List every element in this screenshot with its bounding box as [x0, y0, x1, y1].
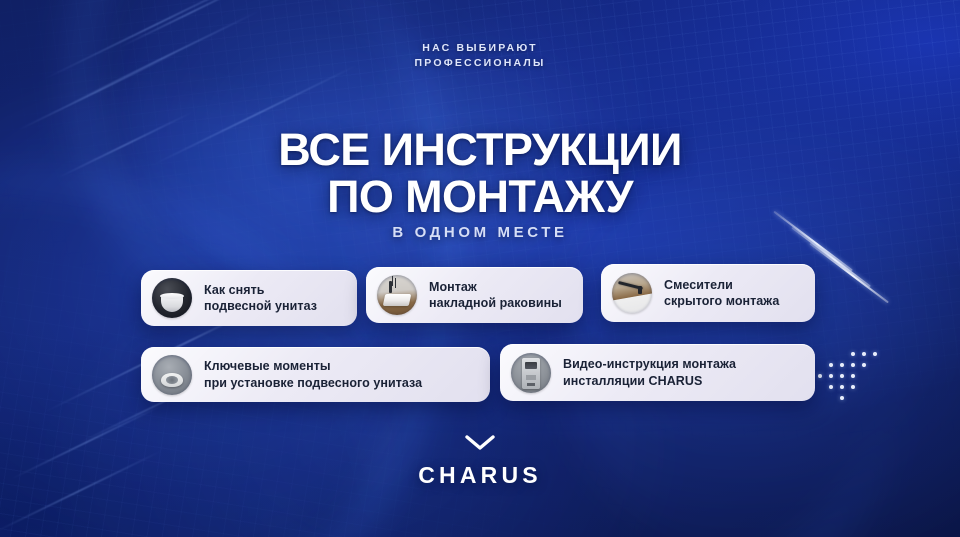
instruction-card-charus-installation-video[interactable]: Видео-инструкция монтажа инсталляции CHA…	[500, 344, 815, 401]
brand-name: CHARUS	[0, 462, 960, 489]
instruction-card-label: Как снять подвесной унитаз	[204, 282, 317, 315]
card-line-2: подвесной унитаз	[204, 298, 317, 315]
banner-stage: НАС ВЫБИРАЮТ ПРОФЕССИОНАЛЫ ВСЕ ИНСТРУКЦИ…	[0, 0, 960, 537]
card-line-2: скрытого монтажа	[664, 293, 779, 310]
instruction-card-label: Видео-инструкция монтажа инсталляции CHA…	[563, 356, 736, 389]
instruction-card-label: Монтаж накладной раковины	[429, 279, 562, 312]
card-line-2: накладной раковины	[429, 295, 562, 312]
instruction-card-countertop-basin-installation[interactable]: Монтаж накладной раковины	[366, 267, 583, 323]
card-line-1: Как снять	[204, 282, 317, 299]
chevron-down-icon	[465, 435, 495, 450]
banner-content: НАС ВЫБИРАЮТ ПРОФЕССИОНАЛЫ ВСЕ ИНСТРУКЦИ…	[0, 0, 960, 537]
instruction-card-label: Ключевые моменты при установке подвесног…	[204, 358, 422, 391]
countertop-basin-thumbnail-icon	[377, 275, 417, 315]
card-line-1: Видео-инструкция монтажа	[563, 356, 736, 373]
grey-toilet-thumbnail-icon	[152, 355, 192, 395]
card-line-2: инсталляции CHARUS	[563, 373, 736, 390]
instruction-card-concealed-mixers[interactable]: Смесители скрытого монтажа	[601, 264, 815, 322]
instruction-card-label: Смесители скрытого монтажа	[664, 277, 779, 310]
instruction-card-key-points-wall-hung-toilet[interactable]: Ключевые моменты при установке подвесног…	[141, 347, 490, 402]
card-line-1: Монтаж	[429, 279, 562, 296]
installation-frame-thumbnail-icon	[511, 353, 551, 393]
concealed-mixer-thumbnail-icon	[612, 273, 652, 313]
card-line-2: при установке подвесного унитаза	[204, 375, 422, 392]
instruction-card-how-to-remove-wall-hung-toilet[interactable]: Как снять подвесной унитаз	[141, 270, 357, 326]
card-line-1: Ключевые моменты	[204, 358, 422, 375]
brand-logo: CHARUS	[0, 435, 960, 489]
wall-hung-toilet-thumbnail-icon	[152, 278, 192, 318]
card-line-1: Смесители	[664, 277, 779, 294]
